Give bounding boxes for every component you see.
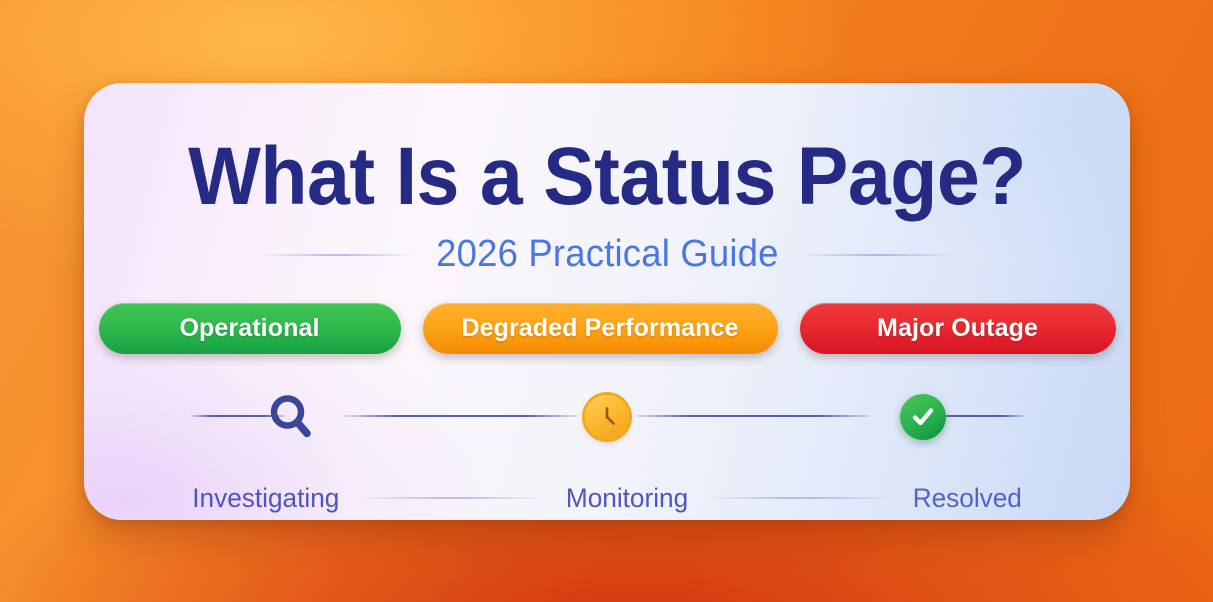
timeline-label-monitoring: Monitoring [565, 483, 687, 514]
subtitle-rule-right [803, 254, 951, 256]
status-badge-major-outage[interactable]: Major Outage [800, 303, 1116, 354]
clock-icon [585, 395, 629, 439]
status-page-card: What Is a Status Page? 2026 Practical Gu… [84, 83, 1130, 520]
incident-timeline [190, 388, 1024, 488]
status-badge-degraded-performance[interactable]: Degraded Performance [423, 303, 778, 354]
card-content: What Is a Status Page? 2026 Practical Gu… [84, 83, 1130, 520]
check-circle-icon [900, 394, 946, 440]
timeline-node-monitoring[interactable] [578, 388, 636, 446]
clock-hands-icon [592, 402, 622, 432]
timeline-labels: Investigating Monitoring Resolved [190, 481, 1024, 515]
status-badge-group: Operational Degraded Performance Major O… [84, 303, 1130, 354]
subtitle-rule-left [263, 254, 411, 256]
poster-canvas: What Is a Status Page? 2026 Practical Gu… [0, 0, 1213, 602]
timeline-node-resolved[interactable] [894, 388, 952, 446]
timeline-node-investigating[interactable] [262, 388, 320, 446]
label-rule-2 [710, 497, 892, 499]
checkmark-icon [909, 403, 937, 431]
status-badge-operational[interactable]: Operational [99, 303, 401, 354]
timeline-nodes [190, 388, 1024, 446]
label-rule-1 [362, 497, 544, 499]
magnifying-glass-icon [264, 390, 318, 444]
page-subtitle: 2026 Practical Guide [436, 233, 778, 276]
subtitle-row: 2026 Practical Guide [84, 233, 1130, 276]
page-title: What Is a Status Page? [115, 136, 1098, 218]
timeline-label-investigating: Investigating [192, 483, 339, 514]
timeline-label-resolved: Resolved [913, 483, 1022, 514]
